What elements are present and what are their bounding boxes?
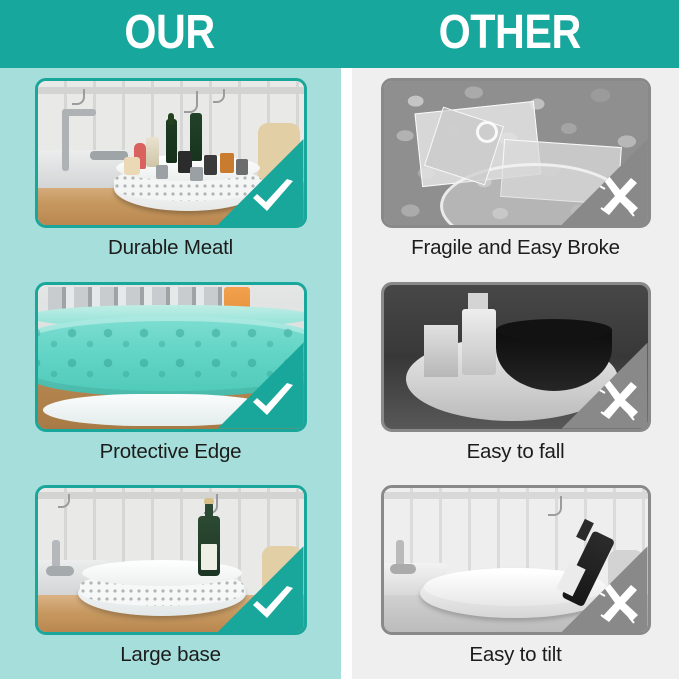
other-item-2-image xyxy=(381,282,651,432)
other-item-1-image xyxy=(381,78,651,228)
other-item-1: Fragile and Easy Broke xyxy=(352,68,679,272)
header-left-half: OUR xyxy=(0,0,340,68)
other-item-2: Easy to fall xyxy=(352,272,679,476)
our-item-1: Durable Meatl xyxy=(0,68,341,272)
our-column: Durable Meatl Protective Edge xyxy=(0,68,341,679)
column-divider xyxy=(341,68,352,679)
other-item-3-image xyxy=(381,485,651,635)
our-item-1-caption: Durable Meatl xyxy=(108,237,233,260)
header-right-half: OTHER xyxy=(340,0,679,68)
our-item-3: Large base xyxy=(0,475,341,679)
comparison-header: OUR OTHER xyxy=(0,0,679,68)
our-item-2-caption: Protective Edge xyxy=(100,441,242,464)
comparison-columns: Durable Meatl Protective Edge xyxy=(0,68,679,679)
other-item-2-caption: Easy to fall xyxy=(467,441,565,464)
page-title-our: OUR xyxy=(125,9,215,59)
other-column: Fragile and Easy Broke xyxy=(352,68,679,679)
our-item-2: Protective Edge xyxy=(0,272,341,476)
our-item-3-caption: Large base xyxy=(120,644,221,667)
other-item-1-caption: Fragile and Easy Broke xyxy=(411,237,620,260)
other-item-3-caption: Easy to tilt xyxy=(469,644,561,667)
page-title-other: OTHER xyxy=(438,9,580,59)
other-item-3: Easy to tilt xyxy=(352,475,679,679)
our-item-3-image xyxy=(35,485,307,635)
our-item-1-image xyxy=(35,78,307,228)
our-item-2-image xyxy=(35,282,307,432)
